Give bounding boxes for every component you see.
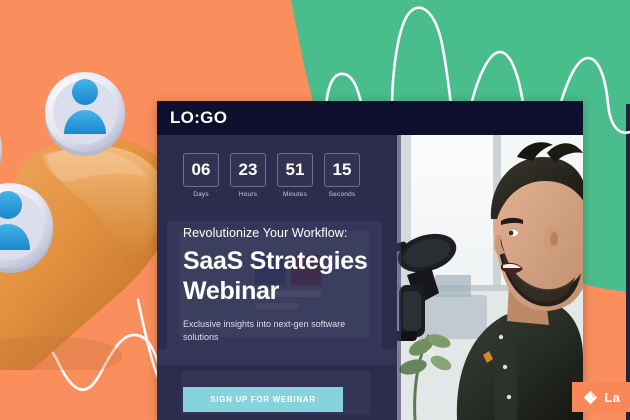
webinar-promo-card: LO:GO 06 bbox=[157, 101, 583, 420]
avatar-coin-1 bbox=[45, 72, 125, 156]
headline-line-2: Webinar bbox=[183, 277, 397, 307]
watermark-badge: La bbox=[572, 382, 630, 412]
webinar-speaker-photo bbox=[397, 135, 583, 420]
speaker-photo-illustration bbox=[397, 135, 583, 420]
card-header-bar: LO:GO bbox=[157, 101, 583, 135]
signup-for-webinar-button[interactable]: SIGN UP FOR WEBINAR bbox=[183, 387, 343, 412]
avatar-coin-3 bbox=[0, 112, 2, 188]
green-shape-top bbox=[291, 0, 630, 104]
magnet-shadow bbox=[0, 336, 122, 370]
countdown-unit-minutes: 51 Minutes bbox=[277, 153, 313, 198]
watermark-label: La bbox=[604, 390, 620, 405]
countdown-value-minutes: 51 bbox=[277, 153, 313, 187]
headline-line-1: SaaS Strategies bbox=[183, 247, 397, 277]
sub-copy: Exclusive insights into next-gen softwar… bbox=[183, 318, 353, 344]
headline: SaaS Strategies Webinar bbox=[183, 247, 397, 306]
eyebrow-text: Revolutionize Your Workflow: bbox=[183, 226, 397, 240]
countdown-label-minutes: Minutes bbox=[277, 191, 313, 198]
countdown-unit-days: 06 Days bbox=[183, 153, 219, 198]
right-edge-strip bbox=[626, 104, 630, 420]
brand-logo-text: LO:GO bbox=[170, 108, 227, 128]
countdown-value-hours: 23 bbox=[230, 153, 266, 187]
watermark-logo-icon bbox=[583, 390, 598, 405]
countdown-value-days: 06 bbox=[183, 153, 219, 187]
countdown-timer: 06 Days 23 Hours 51 Minutes 15 Seconds bbox=[183, 153, 397, 198]
magnet-and-avatars bbox=[0, 30, 182, 370]
countdown-label-days: Days bbox=[183, 191, 219, 198]
countdown-unit-hours: 23 Hours bbox=[230, 153, 266, 198]
lead-magnet-illustration bbox=[0, 30, 182, 370]
card-content-column: 06 Days 23 Hours 51 Minutes 15 Seconds bbox=[157, 135, 397, 420]
card-body: 06 Days 23 Hours 51 Minutes 15 Seconds bbox=[157, 135, 583, 420]
countdown-label-hours: Hours bbox=[230, 191, 266, 198]
screenshot-canvas: LO:GO 06 bbox=[0, 0, 630, 420]
diamond-tag-icon bbox=[583, 390, 598, 405]
countdown-value-seconds: 15 bbox=[324, 153, 360, 187]
countdown-unit-seconds: 15 Seconds bbox=[324, 153, 360, 198]
countdown-label-seconds: Seconds bbox=[324, 191, 360, 198]
